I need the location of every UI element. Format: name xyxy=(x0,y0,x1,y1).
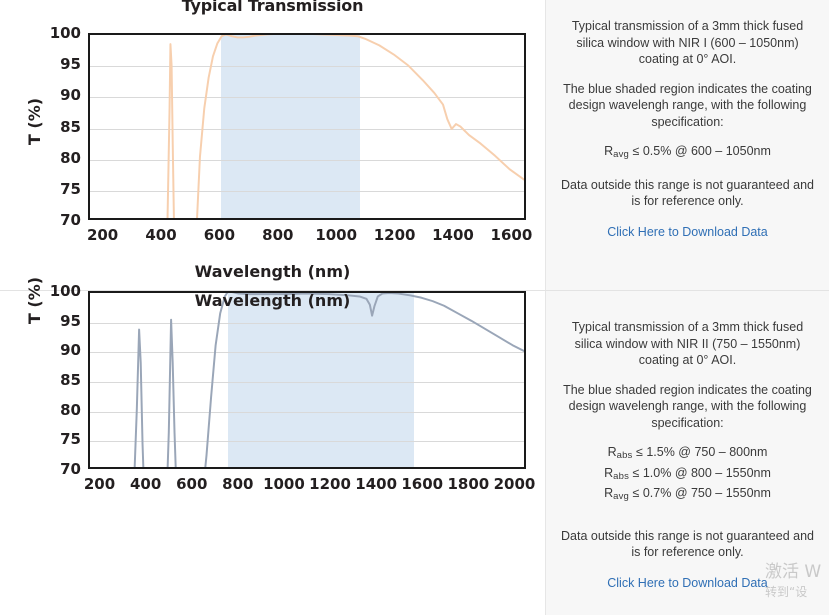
nir-ii-spec-list: Rabs ≤ 1.5% @ 750 – 800nmRabs ≤ 1.0% @ 8… xyxy=(560,444,815,506)
spec-symbol: R xyxy=(604,486,613,500)
spec-symbol: R xyxy=(604,466,613,480)
y-axis-tick-label: 70 xyxy=(60,460,81,478)
nir-i-spec-list: Ravg ≤ 0.5% @ 600 – 1050nm xyxy=(560,143,815,164)
x-axis-tick-label: 1200 xyxy=(309,475,351,493)
y-axis-tick-label: 95 xyxy=(60,55,81,73)
nir-ii-info-pane: Typical transmission of a 3mm thick fuse… xyxy=(545,291,829,615)
chart-1-plot-area: 7075808590951002004006008001000120014001… xyxy=(88,33,526,220)
y-axis-tick-label: 75 xyxy=(60,430,81,448)
nir-i-info-pane: Typical transmission of a 3mm thick fuse… xyxy=(545,0,829,290)
y-axis-tick-label: 75 xyxy=(60,180,81,198)
transmission-curve xyxy=(90,293,524,467)
y-axis-tick-label: 70 xyxy=(60,211,81,229)
nir-ii-description-1: Typical transmission of a 3mm thick fuse… xyxy=(560,319,815,369)
spec-subscript: avg xyxy=(613,491,629,502)
y-axis-tick-label: 90 xyxy=(60,86,81,104)
nir-ii-description-2: The blue shaded region indicates the coa… xyxy=(560,382,815,432)
y-axis-tick-label: 95 xyxy=(60,312,81,330)
x-axis-tick-label: 2000 xyxy=(494,475,536,493)
spec-text: ≤ 0.5% @ 600 – 1050nm xyxy=(629,144,771,158)
x-axis-tick-label: 1600 xyxy=(401,475,443,493)
nir-i-chart-pane: Typical Transmission T (%) 7075808590951… xyxy=(0,0,545,290)
spec-text: ≤ 1.5% @ 750 – 800nm xyxy=(633,445,768,459)
x-axis-tick-label: 1800 xyxy=(447,475,489,493)
spec-line: Rabs ≤ 1.0% @ 800 – 1550nm xyxy=(560,465,815,486)
spec-line: Rabs ≤ 1.5% @ 750 – 800nm xyxy=(560,444,815,465)
spec-line: Ravg ≤ 0.5% @ 600 – 1050nm xyxy=(560,143,815,164)
nir-i-description-1: Typical transmission of a 3mm thick fuse… xyxy=(560,18,815,68)
spec-symbol: R xyxy=(608,445,617,459)
x-axis-tick-label: 600 xyxy=(176,475,207,493)
x-axis-tick-label: 1400 xyxy=(355,475,397,493)
spec-subscript: avg xyxy=(613,149,629,160)
nir-i-download-data-link[interactable]: Click Here to Download Data xyxy=(607,225,768,239)
x-axis-tick-label: 400 xyxy=(130,475,161,493)
x-axis-tick-label: 600 xyxy=(204,226,235,244)
chart-2-plot-box xyxy=(88,291,526,469)
x-axis-tick-label: 400 xyxy=(145,226,176,244)
y-axis-tick-label: 85 xyxy=(60,118,81,136)
nir-ii-panel: Fused Silica with NIR II Coating Typical… xyxy=(0,291,829,615)
chart-2-plot-area: 7075808590951002004006008001000120014001… xyxy=(88,291,526,469)
transmission-curve xyxy=(90,35,524,218)
chart-1-y-axis-label: T (%) xyxy=(25,98,44,145)
chart-1-title-line-1: Typical Transmission xyxy=(0,0,545,16)
nir-i-description-2: The blue shaded region indicates the coa… xyxy=(560,81,815,131)
nir-i-panel: Typical Transmission T (%) 7075808590951… xyxy=(0,0,829,290)
x-axis-tick-label: 1200 xyxy=(374,226,416,244)
x-axis-tick-label: 1600 xyxy=(491,226,533,244)
transmission-curve-layer xyxy=(90,35,524,218)
x-axis-tick-label: 800 xyxy=(262,226,293,244)
x-axis-tick-label: 1000 xyxy=(315,226,357,244)
x-axis-tick-label: 1000 xyxy=(263,475,305,493)
spec-subscript: abs xyxy=(613,471,629,482)
x-axis-tick-label: 200 xyxy=(84,475,115,493)
chart-1-title: Typical Transmission xyxy=(0,0,545,16)
nir-ii-chart-pane: Fused Silica with NIR II Coating Typical… xyxy=(0,291,545,615)
transmission-curve-layer xyxy=(90,293,524,467)
y-axis-tick-label: 80 xyxy=(60,401,81,419)
chart-1-x-axis-label: Wavelength (nm) xyxy=(0,262,545,281)
spec-text: ≤ 0.7% @ 750 – 1550nm xyxy=(629,486,771,500)
chart-2-x-axis-label: Wavelength (nm) xyxy=(0,291,545,310)
chart-1-plot-box xyxy=(88,33,526,220)
nir-ii-description-3: Data outside this range is not guarantee… xyxy=(560,528,815,561)
spec-subscript: abs xyxy=(617,450,633,461)
nir-i-description-3: Data outside this range is not guarantee… xyxy=(560,177,815,210)
nir-ii-download-data-link[interactable]: Click Here to Download Data xyxy=(607,576,768,590)
transmission-spec-page: Typical Transmission T (%) 7075808590951… xyxy=(0,0,829,615)
y-axis-tick-label: 100 xyxy=(50,24,81,42)
x-axis-tick-label: 800 xyxy=(222,475,253,493)
x-axis-tick-label: 200 xyxy=(87,226,118,244)
y-axis-tick-label: 85 xyxy=(60,371,81,389)
spec-symbol: R xyxy=(604,144,613,158)
spec-text: ≤ 1.0% @ 800 – 1550nm xyxy=(629,466,771,480)
spec-line: Ravg ≤ 0.7% @ 750 – 1550nm xyxy=(560,485,815,506)
y-axis-tick-label: 90 xyxy=(60,341,81,359)
x-axis-tick-label: 1400 xyxy=(432,226,474,244)
y-axis-tick-label: 80 xyxy=(60,149,81,167)
